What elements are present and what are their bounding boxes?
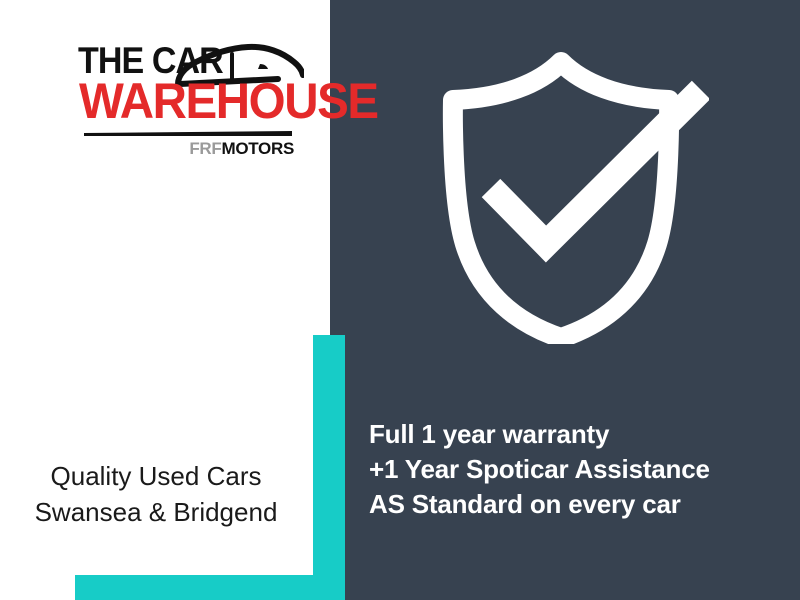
- accent-bar-horizontal: [75, 575, 345, 600]
- logo-sub-frfmotors: FRFMOTORS: [189, 140, 294, 157]
- headline-line-2: +1 Year Spoticar Assistance: [369, 452, 789, 487]
- tagline: Quality Used Cars Swansea & Bridgend: [8, 458, 304, 530]
- accent-bar-vertical: [313, 335, 345, 600]
- logo-sub-motors: MOTORS: [221, 139, 294, 158]
- headline: Full 1 year warranty +1 Year Spoticar As…: [369, 417, 789, 522]
- tagline-line-1: Quality Used Cars: [8, 458, 304, 494]
- headline-line-1: Full 1 year warranty: [369, 417, 789, 452]
- logo-underline-rule: [84, 131, 292, 136]
- logo-sub-frf: FRF: [189, 139, 221, 158]
- shield-check-icon: [413, 48, 709, 344]
- promo-banner: THE CAR WAREHOUSE FRFMOTORS Quality Used…: [0, 0, 800, 600]
- headline-line-3: AS Standard on every car: [369, 487, 789, 522]
- brand-logo: THE CAR WAREHOUSE FRFMOTORS: [78, 42, 294, 160]
- tagline-line-2: Swansea & Bridgend: [8, 494, 304, 530]
- logo-line-warehouse: WAREHOUSE: [79, 76, 378, 126]
